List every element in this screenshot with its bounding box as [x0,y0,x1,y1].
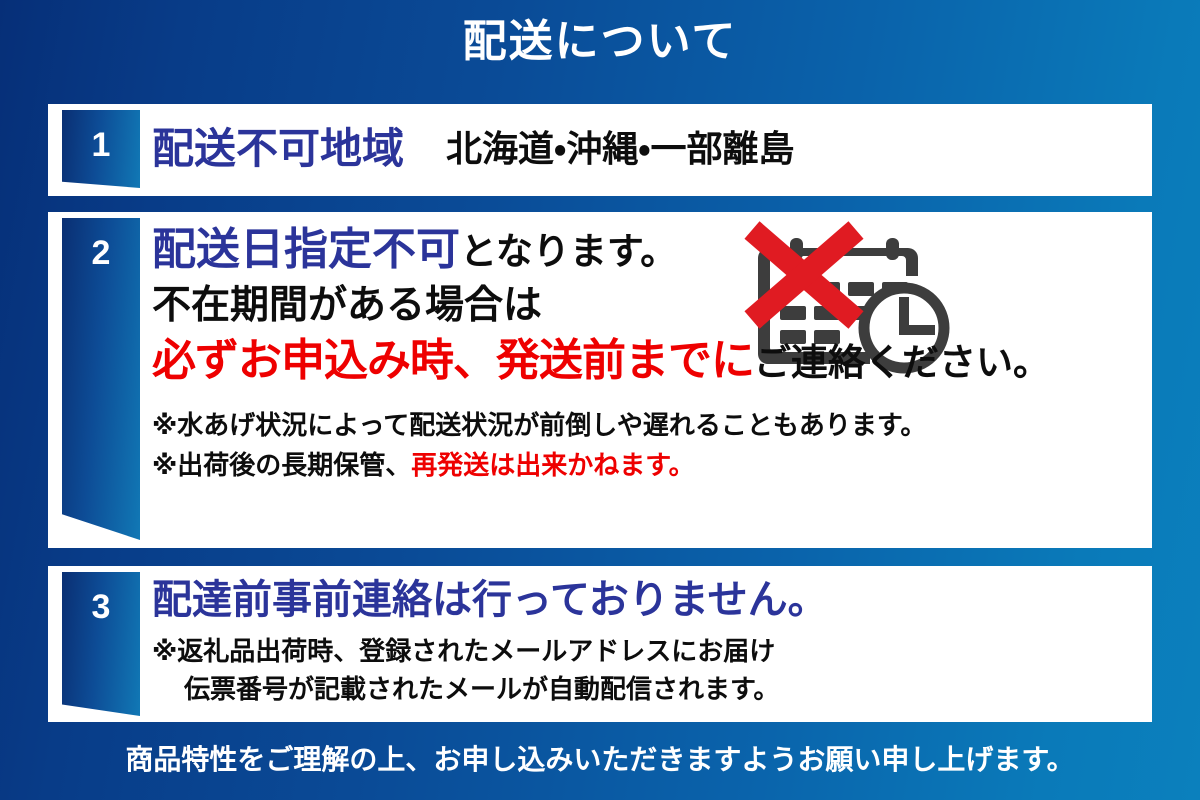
row-number-2: 2 [62,218,140,270]
row-2-content: 配送日指定不可となります。 不在期間がある場合は 必ずお申込み時、発送前までにご… [152,228,1142,486]
row-2-headline: 配送日指定不可となります。 [152,228,1142,272]
row-number-tab-3: 3 [62,572,140,716]
row-2-line-3: 必ずお申込み時、発送前までにご連絡ください。 [152,339,1142,383]
row-3-headline: 配達前事前連絡は行っておりません。 [152,580,1142,620]
row-2-alert-tail: ご連絡ください。 [754,342,1050,383]
info-row-2: 2 [48,212,1152,548]
delivery-info-banner: 配送について 1 配送不可地域 北海道・沖縄・一部離島 2 [0,0,1200,800]
row-3-content: 配達前事前連絡は行っておりません。 ※返礼品出荷時、登録されたメールアドレスにお… [152,580,1142,709]
row-2-note-2: ※出荷後の長期保管、再発送は出来かねます。 [152,445,1142,485]
row-number-tab-1: 1 [62,110,140,188]
info-row-3: 3 配達前事前連絡は行っておりません。 ※返礼品出荷時、登録されたメールアドレス… [48,566,1152,722]
info-row-1: 1 配送不可地域 北海道・沖縄・一部離島 [48,104,1152,196]
row-2-line-2: 不在期間がある場合は [152,286,1142,325]
row-3-note-line-2-wrap: 伝票番号が記載されたメールが自動配信されます。 [152,670,1142,708]
row-2-alert-text: 必ずお申込み時、発送前までに [152,336,754,385]
row-number-tab-2: 2 [62,218,140,540]
row-2-note-1: ※水あげ状況によって配送状況が前倒しや遅れることもあります。 [152,405,1142,445]
footer-message: 商品特性をご理解の上、お申し込みいただきますようお願い申し上げます。 [0,738,1200,778]
row-number-1: 1 [62,110,140,162]
row-2-headline-emphasis: 配送日指定不可 [152,225,460,274]
row-3-note-line-1: ※返礼品出荷時、登録されたメールアドレスにお届け [152,632,1142,670]
page-title: 配送について [0,18,1200,66]
row-2-headline-tail: となります。 [460,231,677,272]
row-1-headline: 配送不可地域 [152,128,404,170]
row-2-note-2-black: ※出荷後の長期保管、 [152,450,411,480]
row-3-note-line-2: 伝票番号が記載されたメールが自動配信されます。 [152,670,779,708]
row-1-content: 配送不可地域 北海道・沖縄・一部離島 [152,118,1140,180]
row-1-detail: 北海道・沖縄・一部離島 [446,131,794,167]
row-number-3: 3 [62,572,140,624]
row-2-note-2-red: 再発送は出来かねます。 [411,450,694,480]
